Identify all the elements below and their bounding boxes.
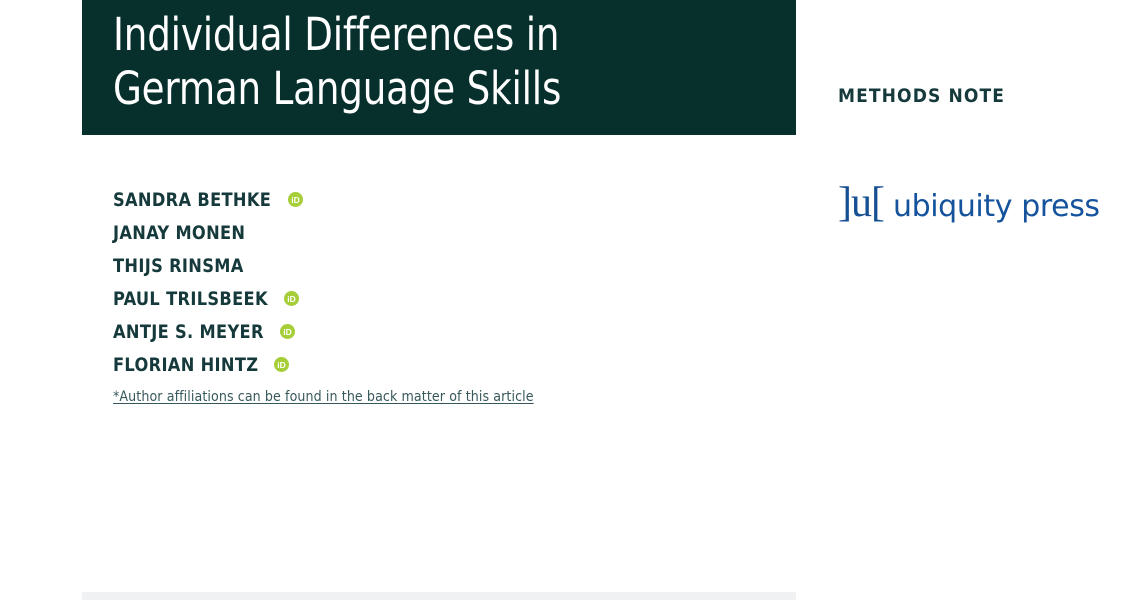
svg-text:iD: iD — [277, 360, 286, 370]
author-affiliations-link[interactable]: *Author affiliations can be found in the… — [113, 389, 534, 405]
ubiquity-brackets-icon: ]u[ — [838, 182, 884, 224]
article-title: Individual Differences in German Languag… — [113, 8, 714, 116]
orcid-icon[interactable]: iD — [284, 291, 299, 306]
author-name: ANTJE S. MEYER — [113, 321, 264, 343]
author-item[interactable]: SANDRA BETHKE iD — [113, 183, 673, 216]
svg-text:iD: iD — [291, 195, 300, 205]
author-item[interactable]: PAUL TRILSBEEK iD — [113, 282, 673, 315]
article-first-page: Individual Differences in German Languag… — [0, 0, 1125, 600]
author-item[interactable]: FLORIAN HINTZ iD — [113, 348, 673, 381]
article-type-label: METHODS NOTE — [838, 85, 1005, 107]
publisher-logo[interactable]: ]u[ ubiquity press — [838, 182, 1100, 224]
author-name: PAUL TRILSBEEK — [113, 288, 268, 310]
author-name: SANDRA BETHKE — [113, 189, 271, 211]
svg-text:iD: iD — [287, 294, 296, 304]
article-title-banner: Individual Differences in German Languag… — [82, 0, 796, 135]
author-list: SANDRA BETHKE iD JANAY MONEN THIJS RINSM… — [113, 183, 673, 381]
author-name: FLORIAN HINTZ — [113, 354, 258, 376]
publisher-name: ubiquity press — [893, 192, 1100, 222]
author-name: THIJS RINSMA — [113, 255, 244, 277]
author-name: JANAY MONEN — [113, 222, 245, 244]
author-item[interactable]: ANTJE S. MEYER iD — [113, 315, 673, 348]
author-item[interactable]: THIJS RINSMA — [113, 249, 673, 282]
abstract-panel-top-edge — [82, 592, 796, 600]
author-item[interactable]: JANAY MONEN — [113, 216, 673, 249]
orcid-icon[interactable]: iD — [274, 357, 289, 372]
orcid-icon[interactable]: iD — [288, 192, 303, 207]
svg-text:iD: iD — [283, 327, 292, 337]
orcid-icon[interactable]: iD — [280, 324, 295, 339]
